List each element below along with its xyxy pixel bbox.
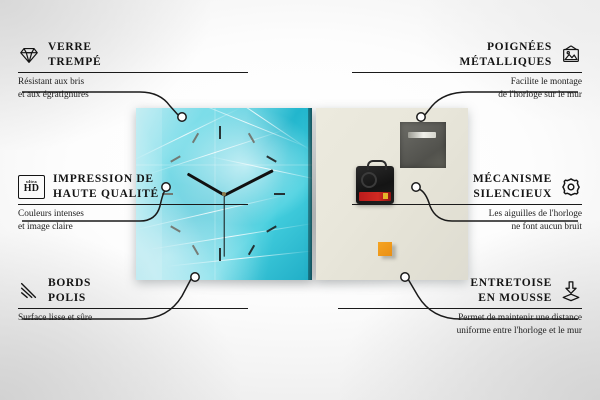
feature-rule [18,72,248,73]
handle-slot [408,132,436,138]
feature-title-line1: ENTRETOISE [470,276,552,291]
feature-sub-line1: Permet de maintenir une distance [338,312,582,324]
ultra-hd-icon-main: HD [24,184,40,194]
feature-sub-line2: ne font aucun bruit [352,221,582,233]
picture-frame-icon [560,44,582,66]
feature-bords-polis: BORDS POLIS Surface lisse et sûre [18,276,248,325]
feature-title-line1: BORDS [48,276,91,291]
feature-title-line1: POIGNÉES [460,40,552,55]
feature-title: POIGNÉES MÉTALLIQUES [460,40,552,69]
tick-10 [170,155,181,162]
feature-sub-line2: et image claire [18,221,248,233]
feature-rule [18,308,248,309]
tick-11 [192,133,199,144]
feature-subtitle: Permet de maintenir une distance uniform… [338,312,582,337]
feature-header: POIGNÉES MÉTALLIQUES [352,40,582,69]
feature-verre-trempe: VERRE TREMPÉ Résistant aux bris et aux é… [18,40,248,101]
feature-subtitle: Couleurs intenses et image claire [18,208,248,233]
feature-poignees-metalliques: POIGNÉES MÉTALLIQUES Facilite le montage… [352,40,582,101]
feature-entretoise-en-mousse: ENTRETOISE EN MOUSSE Permet de maintenir… [338,276,582,337]
foam-spacer-arrow-icon [560,280,582,302]
feature-impression-haute-qualite: ultra HD IMPRESSION DE HAUTE QUALITÉ Cou… [18,172,248,233]
feature-title-line2: MÉTALLIQUES [460,55,552,70]
foam-spacer-part [378,242,392,256]
infographic-canvas: VERRE TREMPÉ Résistant aux bris et aux é… [0,0,600,400]
feature-mecanisme-silencieux: MÉCANISME SILENCIEUX Les aiguilles de l'… [352,172,582,233]
feature-sub-line2: uniforme entre l'horloge et le mur [338,325,582,337]
mechanism-hanger-loop [367,160,387,170]
gear-icon [560,176,582,198]
feature-header: ultra HD IMPRESSION DE HAUTE QUALITÉ [18,172,248,201]
feature-header: VERRE TREMPÉ [18,40,248,69]
feature-subtitle: Facilite le montage de l'horloge sur le … [352,76,582,101]
feature-title: VERRE TREMPÉ [48,40,101,69]
polished-edges-icon [18,280,40,302]
feature-header: BORDS POLIS [18,276,248,305]
feature-sub-line1: Résistant aux bris [18,76,248,88]
tick-2 [266,155,277,162]
feature-rule [18,204,248,205]
feature-title-line1: MÉCANISME [473,172,552,187]
ultra-hd-icon: ultra HD [18,175,45,199]
feature-title-line2: EN MOUSSE [470,291,552,306]
feature-sub-line1: Couleurs intenses [18,208,248,220]
feature-rule [338,308,582,309]
feature-title-line2: POLIS [48,291,91,306]
feature-rule [352,204,582,205]
feature-title-line2: SILENCIEUX [473,187,552,202]
feature-title-line2: HAUTE QUALITÉ [53,187,159,202]
metal-handle-part [400,122,446,168]
feature-title: BORDS POLIS [48,276,91,305]
feature-subtitle: Surface lisse et sûre [18,312,248,324]
feature-subtitle: Résistant aux bris et aux égratignures [18,76,248,101]
feature-sub-line1: Surface lisse et sûre [18,312,248,324]
feature-title-line1: VERRE [48,40,101,55]
tick-12 [219,126,221,139]
feature-subtitle: Les aiguilles de l'horloge ne font aucun… [352,208,582,233]
feature-title-line2: TREMPÉ [48,55,101,70]
tick-6 [219,248,221,261]
feature-sub-line2: de l'horloge sur le mur [352,89,582,101]
tick-7 [192,245,199,256]
tick-5 [248,245,255,256]
glass-edge [308,108,312,280]
tick-3 [274,193,285,195]
feature-header: MÉCANISME SILENCIEUX [352,172,582,201]
feature-title: ENTRETOISE EN MOUSSE [470,276,552,305]
feature-title-line1: IMPRESSION DE [53,172,159,187]
feature-sub-line2: et aux égratignures [18,89,248,101]
diamond-icon [18,44,40,66]
feature-rule [352,72,582,73]
feature-title: IMPRESSION DE HAUTE QUALITÉ [53,172,159,201]
feature-sub-line1: Facilite le montage [352,76,582,88]
feature-sub-line1: Les aiguilles de l'horloge [352,208,582,220]
feature-header: ENTRETOISE EN MOUSSE [338,276,582,305]
feature-title: MÉCANISME SILENCIEUX [473,172,552,201]
